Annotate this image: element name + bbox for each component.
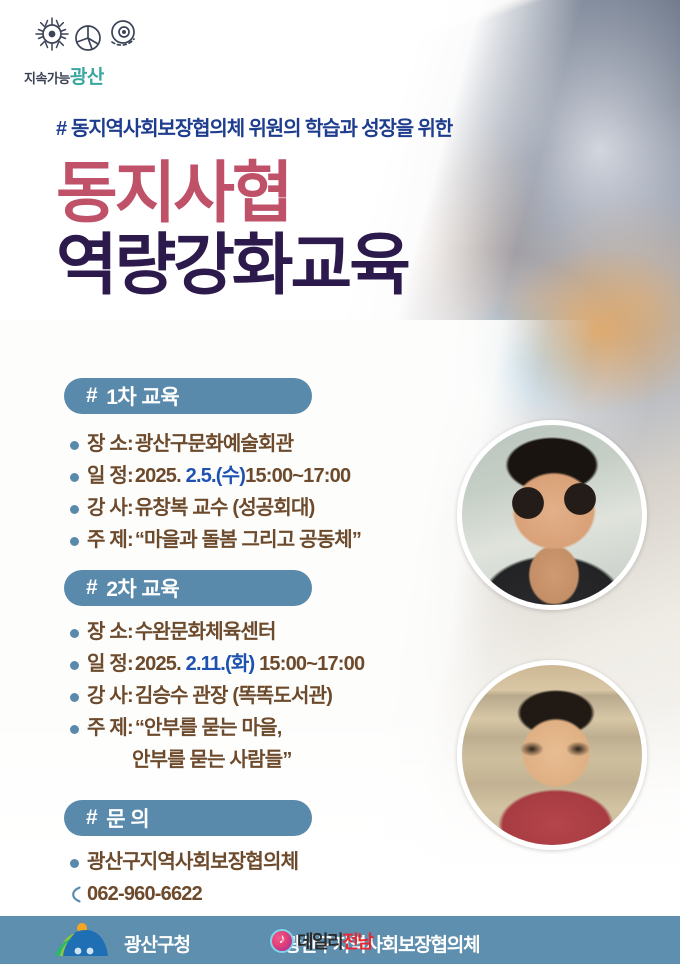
detail-label: 주 제: <box>87 530 133 550</box>
hash-symbol-icon: # <box>56 118 66 140</box>
detail-value-pre: 2025. <box>135 465 186 487</box>
bullet-icon <box>70 859 79 868</box>
bullet-icon <box>70 505 79 514</box>
detail-value-post: 15:00~17:00 <box>245 465 350 487</box>
bullet-icon <box>70 441 79 450</box>
detail-label: 장 소: <box>87 622 133 642</box>
watermark-text-1: 데일리 <box>297 928 342 954</box>
section-header-session-2-label: 2차 교육 <box>106 573 179 603</box>
detail-value-date: 2.11.(화) <box>186 653 255 675</box>
detail-row: 주 제: “마을과 돌봄 그리고 공동체” <box>70 530 361 550</box>
brand-word-dark: 지속가능 <box>24 71 70 86</box>
detail-label: 일 정: <box>87 654 133 674</box>
detail-value: 김승수 관장 (똑똑도서관) <box>135 686 332 706</box>
detail-row: 일 정: 2025. 2.5.(수)15:00~17:00 <box>70 466 361 486</box>
hash-symbol-icon: # <box>86 806 97 830</box>
sustainable-gwangsan-logo-icon <box>28 14 146 65</box>
brand-logo: 지속가능광산 <box>22 12 154 88</box>
detail-row: 장 소: 수완문화체육센터 <box>70 622 364 642</box>
detail-value: “안부를 묻는 마을, <box>135 718 282 738</box>
hash-symbol-icon: # <box>86 576 97 600</box>
brand-word-accent: 광산 <box>70 67 104 88</box>
brand-wordmark: 지속가능광산 <box>24 62 152 89</box>
detail-row: 일 정: 2025. 2.11.(화) 15:00~17:00 <box>70 654 364 674</box>
section-header-contact-label: 문 의 <box>106 803 149 833</box>
detail-row: 장 소: 광산구문화예술회관 <box>70 434 361 454</box>
section-header-session-2: #2차 교육 <box>64 570 312 606</box>
detail-value: 안부를 묻는 사람들” <box>132 750 292 770</box>
speaker-photo-session-1 <box>457 420 647 610</box>
detail-value: 광산구문화예술회관 <box>135 434 293 454</box>
section-header-session-1-label: 1차 교육 <box>106 381 179 411</box>
event-poster: 지속가능광산 #동지역사회보장협의체 위원의 학습과 성장을 위한 동지사협 역… <box>0 0 680 964</box>
watermark-text-2: 전남 <box>342 928 372 954</box>
detail-row: 강 사: 유창복 교수 (성공회대) <box>70 498 361 518</box>
detail-label: 강 사: <box>87 498 133 518</box>
gwangsan-gu-office-logo-icon <box>52 922 112 960</box>
section-header-session-1: #1차 교육 <box>64 378 312 414</box>
bullet-icon <box>70 661 79 670</box>
contact-details: 광산구지역사회보장협의체 062-960-6622 <box>70 852 298 919</box>
page-title-line2: 역량강화교육 <box>56 232 408 299</box>
detail-value: 유창복 교수 (성공회대) <box>135 498 315 518</box>
bullet-icon <box>70 693 79 702</box>
contact-org-row: 광산구지역사회보장협의체 <box>70 852 298 872</box>
detail-value: 수완문화체육센터 <box>135 622 276 642</box>
tagline: #동지역사회보장협의체 위원의 학습과 성장을 위한 <box>56 112 656 141</box>
section-header-contact: #문 의 <box>64 800 312 836</box>
bullet-icon <box>70 725 79 734</box>
daily-jeonnam-badge-icon <box>270 929 294 953</box>
detail-value-date: 2.5.(수) <box>186 465 245 487</box>
detail-label: 장 소: <box>87 434 133 454</box>
detail-value: 2025. 2.11.(화) 15:00~17:00 <box>135 654 364 674</box>
phone-icon <box>70 886 79 907</box>
session-2-details: 장 소: 수완문화체육센터 일 정: 2025. 2.11.(화) 15:00~… <box>70 622 364 782</box>
detail-value-post: 15:00~17:00 <box>254 653 364 675</box>
detail-label: 주 제: <box>87 718 133 738</box>
detail-value: “마을과 돌봄 그리고 공동체” <box>135 530 361 550</box>
footer-org-1: 광산구청 <box>124 930 190 957</box>
detail-row: 강 사: 김승수 관장 (똑똑도서관) <box>70 686 364 706</box>
bullet-icon <box>70 473 79 482</box>
detail-value: 2025. 2.5.(수)15:00~17:00 <box>135 466 350 486</box>
detail-label: 일 정: <box>87 466 133 486</box>
bullet-icon <box>70 537 79 546</box>
contact-phone-number[interactable]: 062-960-6622 <box>87 884 202 904</box>
daily-jeonnam-watermark: 데일리 전남 <box>270 928 372 954</box>
contact-phone-row[interactable]: 062-960-6622 <box>70 884 298 907</box>
tagline-text: 동지역사회보장협의체 위원의 학습과 성장을 위한 <box>71 118 452 140</box>
contact-org: 광산구지역사회보장협의체 <box>87 852 298 872</box>
detail-label: 강 사: <box>87 686 133 706</box>
detail-row: 주 제: “안부를 묻는 마을, <box>70 718 364 738</box>
speaker-photo-session-2 <box>457 660 647 850</box>
detail-row-continuation: 안부를 묻는 사람들” <box>132 750 364 770</box>
session-1-details: 장 소: 광산구문화예술회관 일 정: 2025. 2.5.(수)15:00~1… <box>70 434 361 562</box>
bullet-icon <box>70 629 79 638</box>
detail-value-pre: 2025. <box>135 653 186 675</box>
page-title-line1: 동지사협 <box>56 160 291 227</box>
hash-symbol-icon: # <box>86 384 97 408</box>
footer-bar: 광산구청 광산구지역사회보장협의체 데일리 전남 <box>0 916 680 964</box>
